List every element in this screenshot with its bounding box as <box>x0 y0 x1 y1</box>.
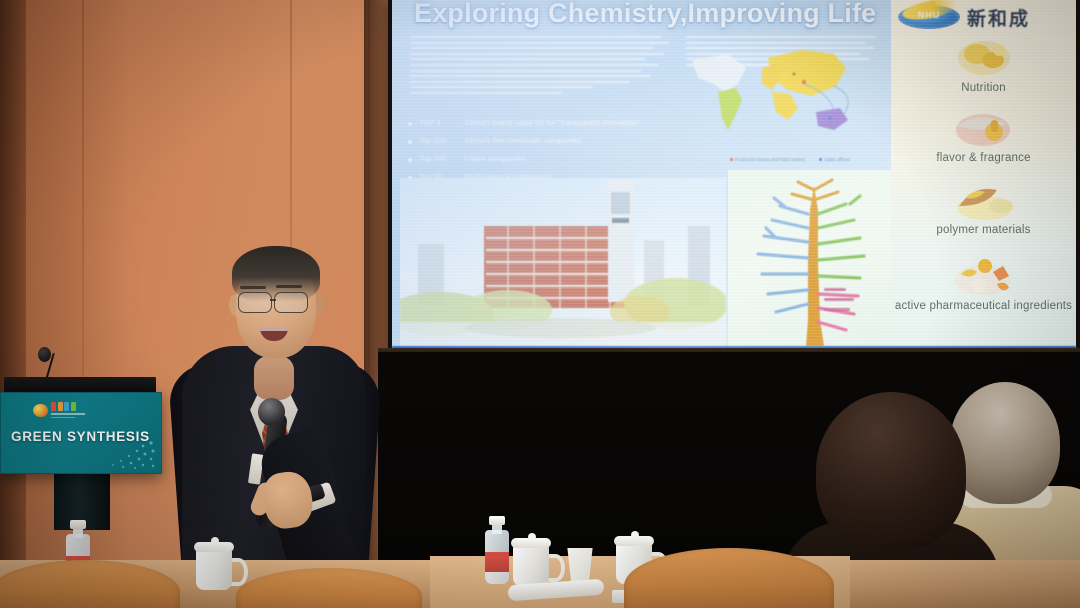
slide-title: Exploring Chemistry,Improving Life <box>414 0 884 32</box>
bullet-rank: Top 100 <box>419 154 465 163</box>
bullet-item: Top 100 Listed companies <box>408 154 688 165</box>
slide-body-text-left <box>410 36 672 98</box>
speaker-brow-right <box>276 285 302 288</box>
icgc-subtitle-bar <box>51 413 85 415</box>
product-tree-graphic <box>728 170 900 348</box>
audience-head <box>816 392 966 550</box>
map-legend: Production bases and R&D centers Sales o… <box>730 157 850 162</box>
icgc-leaf-icon <box>33 404 48 417</box>
product-label-fragrance: flavor & fragrance <box>891 152 1076 166</box>
nhu-chinese-name: 新和成 <box>967 4 1030 31</box>
nhu-oval-icon: NHU <box>898 5 960 29</box>
bullet-rank: Top 100 <box>419 136 465 145</box>
bullet-dot-icon <box>408 158 412 162</box>
projection-screen: Exploring Chemistry,Improving Life TOP 1… <box>392 0 1076 352</box>
lectern-banner: GREEN SYNTHESIS <box>0 392 162 474</box>
speaker-neck <box>254 356 294 400</box>
bullet-item: TOP 1 China's brand value list for "tran… <box>408 118 688 129</box>
eyeglass-lens-right <box>274 292 308 313</box>
api-icon <box>949 250 1019 302</box>
product-rail: Nutrition flavor & fragrance polym <box>891 0 1076 352</box>
nutrition-icon <box>949 28 1019 80</box>
polymer-icon <box>949 172 1019 224</box>
bullet-text: China's fine chemicals companies <box>465 136 581 147</box>
bullet-dot-icon <box>408 122 412 126</box>
bullet-text: Listed companies <box>465 154 525 165</box>
eyeglass-lens-left <box>238 292 272 313</box>
fragrance-icon <box>949 100 1019 152</box>
bullet-text: China's brand value list for "transparen… <box>465 118 640 129</box>
eyeglass-bridge <box>270 299 276 301</box>
lectern-dot-pattern <box>95 439 157 471</box>
presentation-hall-photo: Exploring Chemistry,Improving Life TOP 1… <box>0 0 1080 608</box>
speaker-brow-left <box>240 286 266 289</box>
map-legend-item: Production bases and R&D centers <box>730 157 805 162</box>
gooseneck-microphone-icon <box>38 347 51 362</box>
bullet-dot-icon <box>408 140 412 144</box>
map-legend-item: Sales offices <box>819 157 849 162</box>
product-label-polymer: polymer materials <box>891 224 1076 238</box>
nhu-mark-text: NHU <box>898 10 960 20</box>
nhu-brand-logo: NHU 新和成 <box>898 2 1068 32</box>
bullet-item: Top 100 China's fine chemicals companies <box>408 136 688 147</box>
product-label-api: active pharmaceutical ingredients <box>891 300 1076 314</box>
icgc-logo <box>33 402 85 418</box>
icgc-subtitle-bar-2 <box>51 417 75 419</box>
world-map-graphic: Production bases and R&D centers Sales o… <box>684 34 892 164</box>
icgc-wordmark <box>51 402 85 411</box>
bullet-rank: TOP 1 <box>419 118 465 127</box>
product-label-nutrition: Nutrition <box>891 82 1076 96</box>
campus-photo <box>400 178 726 348</box>
